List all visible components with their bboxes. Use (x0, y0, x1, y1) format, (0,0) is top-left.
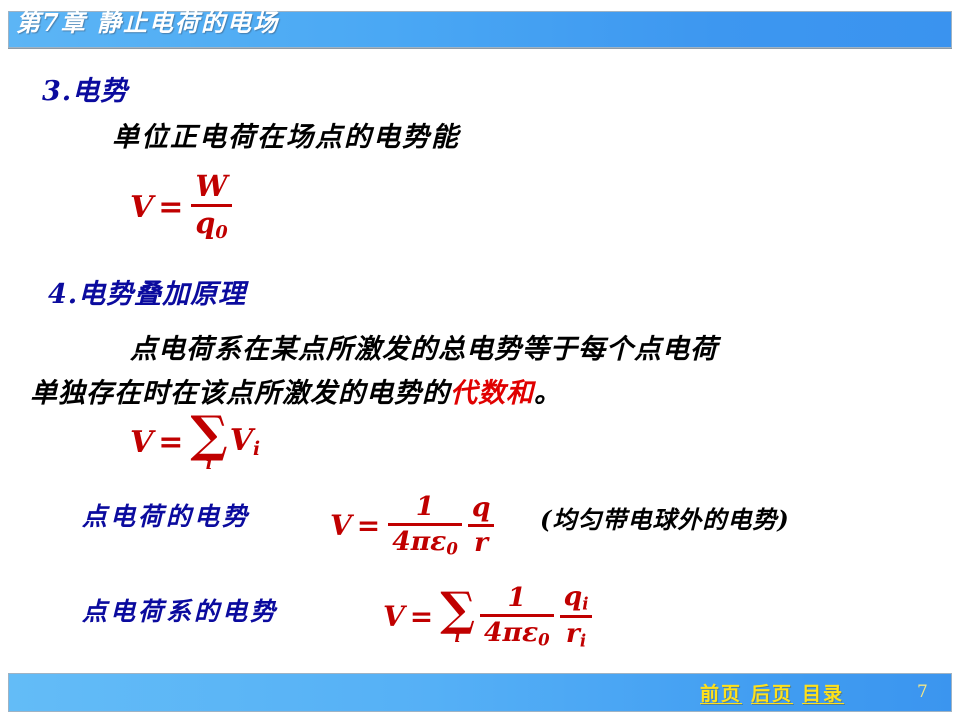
section-3-heading: 3.电势 (42, 69, 128, 108)
summation-operator: ∑ i (190, 412, 227, 472)
section-4-heading: 4.电势叠加原理 (48, 272, 246, 311)
pcs-frac2-numerator: qi (560, 583, 593, 613)
formula-equals: = (158, 190, 183, 225)
sum-formula-equals: = (158, 425, 183, 460)
formula-point-charge-system-potential: V = ∑ i 1 4πε0 qi ri (383, 583, 595, 650)
slide-chapter-title: 第7章 静止电荷的电场 (16, 3, 279, 38)
paragraph-text-before-accent: 单独存在时在该点所激发的电势的 (30, 378, 450, 409)
paragraph-text-after-accent: 。 (534, 378, 562, 409)
pc-formula-lhs: V (330, 509, 352, 542)
summation-term: Vi (230, 423, 260, 460)
pcs-fraction-qi-over-ri: qi ri (560, 583, 593, 650)
pcs-frac2-den-subscript: i (580, 632, 586, 651)
sigma-glyph-icon: ∑ (190, 412, 227, 458)
pcs-frac2-den-symbol: r (566, 618, 580, 649)
summation-term-subscript: i (253, 440, 260, 461)
pcs-frac2-num-subscript: i (582, 595, 588, 614)
fraction-q-over-r: q r (468, 494, 495, 557)
denominator-symbol: q (195, 206, 215, 240)
pc-frac1-denominator: 4πε0 (388, 528, 462, 558)
pcs-frac1-denominator: 4πε0 (480, 619, 554, 649)
summation-index: i (206, 456, 213, 473)
fraction-one-over-4pie0: 1 4πε0 (388, 493, 462, 558)
pc-frac1-den-symbol: 4πε (392, 526, 446, 557)
pc-formula-equals: = (357, 509, 380, 542)
summation-term-symbol: V (230, 423, 253, 458)
pc-frac1-den-subscript: 0 (446, 540, 457, 559)
pcs-frac1-den-symbol: 4πε (484, 617, 538, 648)
fraction-denominator: q0 (191, 209, 231, 242)
pcs-formula-lhs: V (383, 600, 405, 633)
pcs-fraction-one-over-4pie0: 1 4πε0 (480, 584, 554, 649)
footer-navigation: 前页 后页 目录 (700, 679, 844, 706)
pcs-summation-index: i (454, 629, 460, 644)
pcs-frac2-num-symbol: q (564, 581, 583, 612)
formula-point-charge-potential: V = 1 4πε0 q r (330, 493, 497, 558)
section-4-paragraph-line-2: 单独存在时在该点所激发的电势的代数和。 (30, 371, 562, 410)
fraction-numerator: W (192, 172, 232, 202)
denominator-subscript: 0 (215, 222, 227, 243)
pcs-frac1-numerator: 1 (504, 584, 531, 612)
pcs-formula-equals: = (410, 600, 433, 633)
sigma-glyph-icon: ∑ (440, 588, 475, 631)
pc-frac2-numerator: q (468, 494, 495, 522)
pcs-frac1-den-subscript: 0 (538, 631, 549, 650)
label-point-charge-potential: 点电荷的电势 (82, 497, 250, 533)
formula-potential-superposition: V = ∑ i Vi (130, 412, 260, 472)
next-page-link[interactable]: 后页 (751, 679, 793, 706)
note-uniform-sphere-potential: (均匀带电球外的电势) (540, 500, 790, 535)
label-point-charge-system-potential: 点电荷系的电势 (82, 592, 278, 628)
page-number: 7 (917, 682, 928, 702)
fraction-W-over-q0: W q0 (191, 172, 231, 242)
formula-lhs: V (130, 190, 153, 225)
pcs-summation-operator: ∑ i (440, 588, 475, 644)
section-4-paragraph-line-1: 点电荷系在某点所激发的总电势等于每个点电荷 (130, 327, 718, 366)
formula-potential-definition: V = W q0 (130, 172, 235, 242)
pc-frac2-denominator: r (470, 529, 492, 557)
section-3-body-text: 单位正电荷在场点的电势能 (112, 115, 460, 154)
pc-frac1-numerator: 1 (412, 493, 439, 521)
sum-formula-lhs: V (130, 425, 153, 460)
prev-page-link[interactable]: 前页 (700, 679, 742, 706)
pcs-frac2-denominator: ri (562, 620, 590, 650)
paragraph-accent-text: 代数和 (450, 378, 534, 409)
table-of-contents-link[interactable]: 目录 (802, 679, 844, 706)
